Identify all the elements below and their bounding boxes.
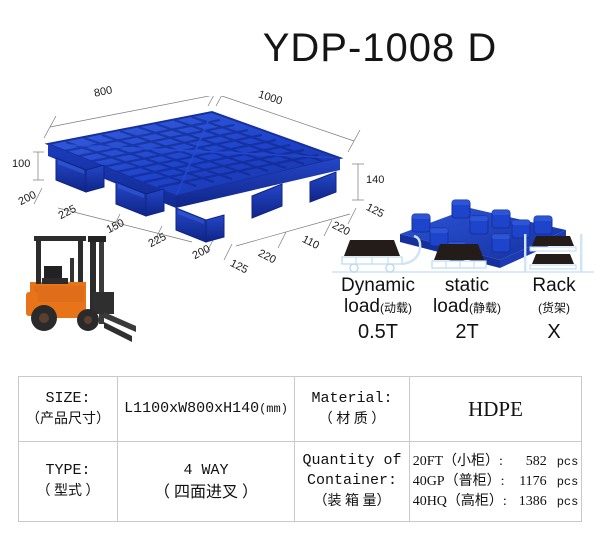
load-subtitle-rack: (货架): [514, 296, 594, 319]
load-subtitle-cn-rack: (货架): [538, 301, 570, 315]
container-quantity-list: 20FT（小柜）:582pcs 40GP（普柜）:1176pcs 40HQ（高柜…: [413, 452, 579, 512]
forklift-illustration: [26, 236, 136, 342]
load-subtitle-cn-dynamic: (动载): [380, 301, 412, 315]
container-qty-40hq: 1386: [505, 492, 547, 511]
type-value-cn: （ 四面进叉 ）: [122, 482, 290, 504]
load-capacity-row: Dynamic load(动载) 0.5T static load(静载) 2T…: [332, 232, 594, 342]
dim-100: 100: [12, 158, 30, 170]
table-row: TYPE: （ 型式 ） 4 WAY （ 四面进叉 ） Quantity of …: [19, 442, 582, 522]
rack-shelf-icon: [524, 234, 582, 272]
load-item-dynamic: Dynamic load(动载) 0.5T: [328, 276, 428, 344]
specification-table: SIZE: （产品尺寸） L1100xW800xH140(mm) Materia…: [18, 376, 582, 522]
cell-size-value: L1100xW800xH140(mm): [118, 377, 295, 442]
size-value-unit: (mm): [259, 402, 288, 416]
load-subtitle-cn-static: (静载): [469, 301, 501, 315]
load-value-static: 2T: [420, 320, 514, 344]
load-icons-svg: [332, 232, 594, 278]
list-item: 40HQ（高柜）:1386pcs: [413, 492, 579, 512]
type-value-en: 4 WAY: [122, 460, 290, 482]
load-title-rack: Rack: [514, 276, 594, 296]
pallet-top-perspective: [48, 112, 340, 242]
cell-container-value: 20FT（小柜）:582pcs 40GP（普柜）:1176pcs 40HQ（高柜…: [410, 442, 582, 522]
container-type-40hq: 40HQ（高柜）:: [413, 492, 505, 511]
dim-140: 140: [366, 174, 384, 186]
material-label-cn: （ 材 质 ）: [299, 409, 405, 430]
load-title-dynamic: Dynamic: [328, 276, 428, 296]
load-subtitle-en-static: load: [433, 296, 469, 317]
container-unit-40hq: pcs: [557, 493, 579, 512]
size-value: L1100xW800xH140(mm): [118, 398, 294, 420]
load-subtitle-static: load(静载): [420, 296, 514, 319]
size-label-cn: （产品尺寸）: [23, 409, 113, 430]
cell-type-label: TYPE: （ 型式 ）: [19, 442, 118, 522]
cell-material-label: Material: （ 材 质 ）: [295, 377, 410, 442]
container-label-en-1: Quantity of: [299, 451, 405, 471]
type-label-en: TYPE:: [23, 461, 113, 481]
load-subtitle-dynamic: load(动载): [328, 296, 428, 319]
load-value-rack: X: [514, 320, 594, 344]
size-label-en: SIZE:: [23, 389, 113, 409]
container-qty-20ft: 582: [505, 452, 547, 471]
load-item-rack: Rack (货架) X: [514, 276, 594, 344]
container-label-cn: （装 箱 量）: [299, 491, 405, 512]
container-type-20ft: 20FT（小柜）:: [413, 452, 505, 471]
page-title: YDP-1008 D: [0, 26, 600, 71]
type-label-cn: （ 型式 ）: [23, 481, 113, 502]
cell-material-value: HDPE: [410, 377, 582, 442]
material-value: HDPE: [410, 397, 581, 422]
material-label-en: Material:: [299, 389, 405, 409]
size-value-text: L1100xW800xH140: [124, 400, 259, 417]
cell-container-label: Quantity of Container: （装 箱 量）: [295, 442, 410, 522]
table-row: SIZE: （产品尺寸） L1100xW800xH140(mm) Materia…: [19, 377, 582, 442]
load-title-static: static: [420, 276, 514, 296]
load-subtitle-en-dynamic: load: [344, 296, 380, 317]
static-pallet-icon: [432, 244, 486, 268]
container-type-40gp: 40GP（普柜）:: [413, 472, 505, 491]
container-label-en-2: Container:: [299, 471, 405, 491]
cell-type-value: 4 WAY （ 四面进叉 ）: [118, 442, 295, 522]
pallet-truck-icon: [342, 236, 420, 272]
list-item: 20FT（小柜）:582pcs: [413, 452, 579, 472]
container-unit-20ft: pcs: [557, 453, 579, 472]
list-item: 40GP（普柜）:1176pcs: [413, 472, 579, 492]
load-item-static: static load(静载) 2T: [420, 276, 514, 344]
container-unit-40gp: pcs: [557, 473, 579, 492]
cell-size-label: SIZE: （产品尺寸）: [19, 377, 118, 442]
load-value-dynamic: 0.5T: [328, 320, 428, 344]
product-spec-page: YDP-1008 D: [0, 0, 600, 539]
container-qty-40gp: 1176: [505, 472, 547, 491]
